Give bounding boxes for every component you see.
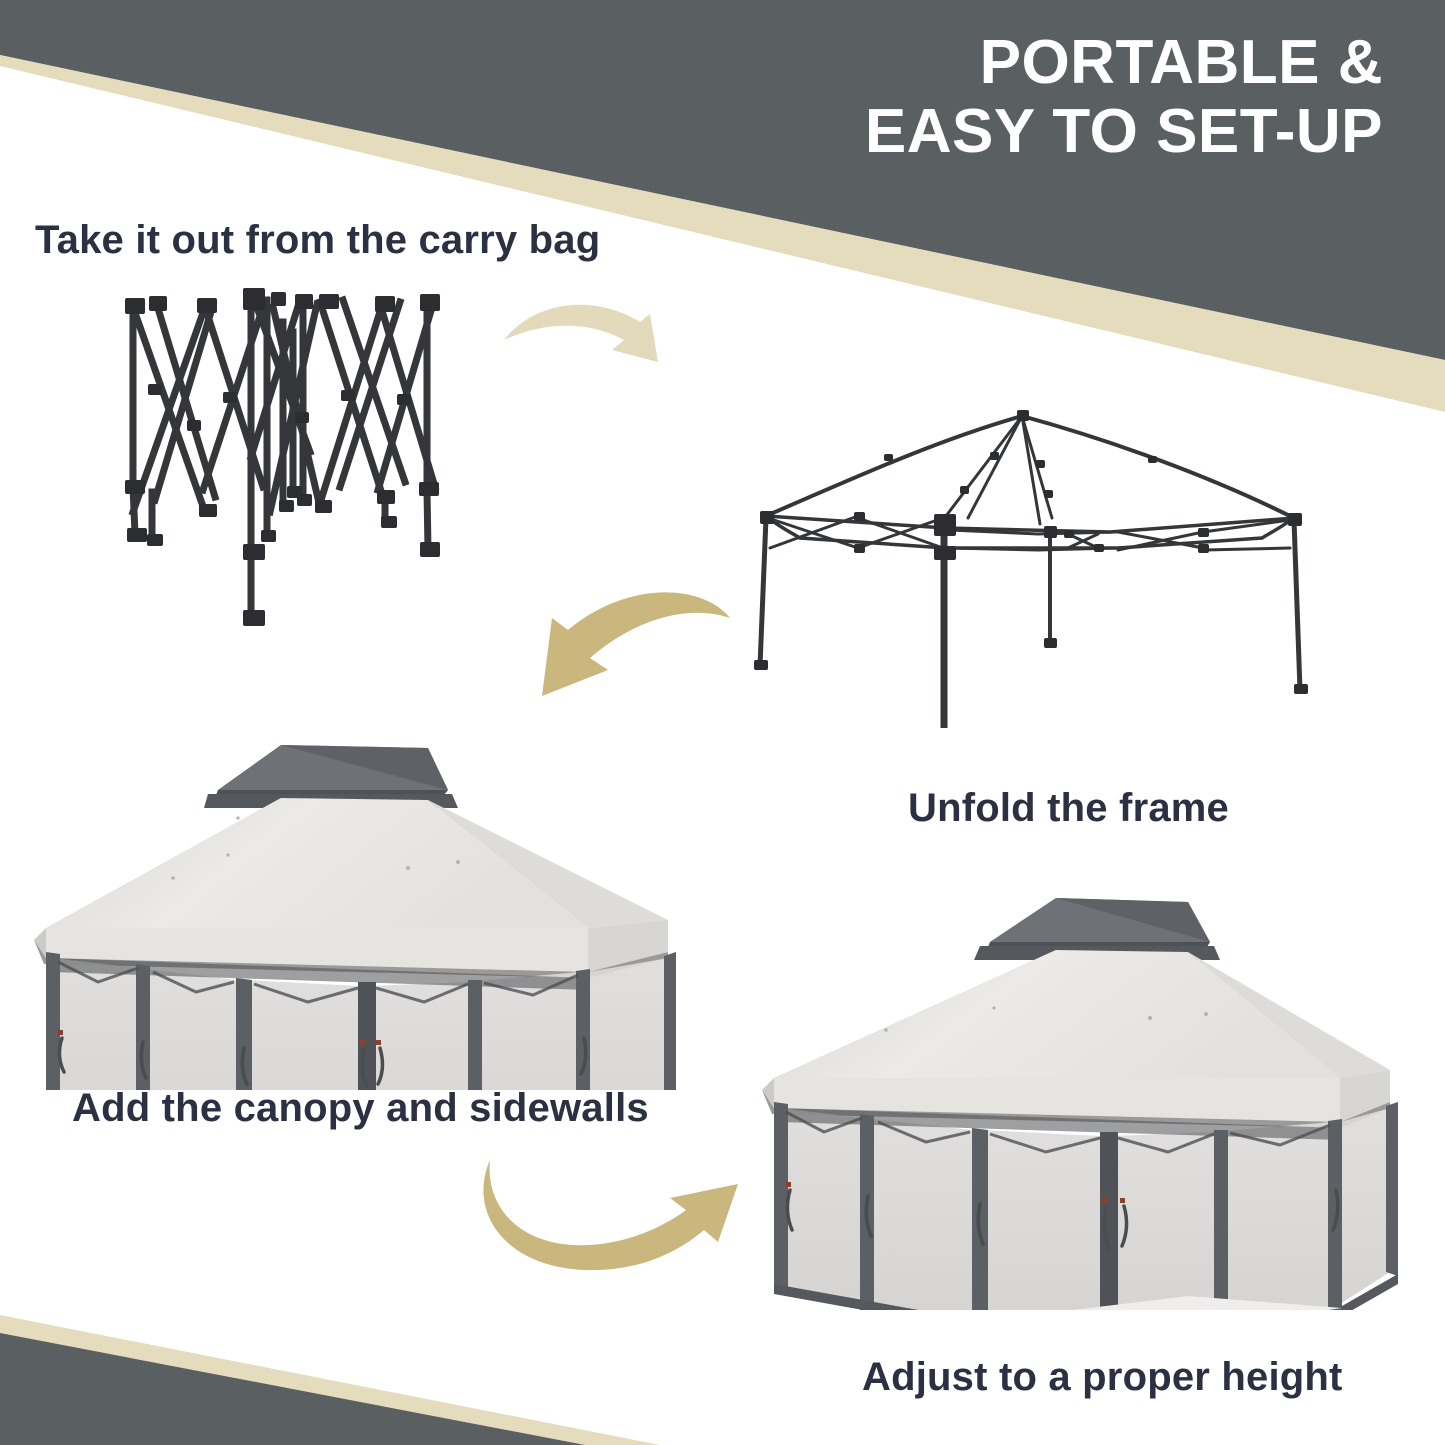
mesh-panel-right-a [478, 972, 580, 1090]
mesh-panel-left-b [872, 1119, 972, 1310]
gazebo-canopy-sidewalls-illustration [28, 690, 693, 1090]
step-3-caption: Add the canopy and sidewalls [72, 1086, 649, 1131]
open-frame-illustration [738, 398, 1323, 728]
header-title-line-2: EASY TO SET-UP [865, 97, 1383, 166]
arrow-step2-to-step3 [498, 578, 733, 703]
arrow-step3-to-step4 [466, 1158, 756, 1293]
step-1-caption: Take it out from the carry bag [35, 218, 600, 263]
mesh-panel-front-a [982, 1130, 1100, 1310]
step-2-caption: Unfold the frame [908, 786, 1229, 831]
arrow-step1-to-step2 [500, 292, 725, 404]
header-title: PORTABLE & EASY TO SET-UP [865, 28, 1383, 167]
bottom-cream-stripe [0, 1315, 660, 1445]
step-4-caption: Adjust to a proper height [862, 1355, 1343, 1400]
mesh-panel-front-a [246, 980, 358, 1090]
bottom-gray-band [0, 1333, 585, 1445]
mesh-panel-right-b [1340, 1108, 1390, 1304]
canopy-front-face [774, 950, 1340, 1078]
post-front-corner [358, 982, 376, 1090]
mesh-panel-left-b [146, 969, 236, 1090]
canopy-front-face [46, 798, 588, 928]
header-title-line-1: PORTABLE & [865, 28, 1383, 97]
mesh-panel-right-b [588, 958, 668, 1090]
gazebo-adjusted-height-illustration [758, 890, 1403, 1310]
infographic-canvas: PORTABLE & EASY TO SET-UP Take it out fr… [0, 0, 1445, 1445]
mesh-panel-right-a [1224, 1122, 1332, 1310]
mesh-panel-left-a [780, 1108, 862, 1310]
folded-frame-illustration [95, 272, 470, 652]
